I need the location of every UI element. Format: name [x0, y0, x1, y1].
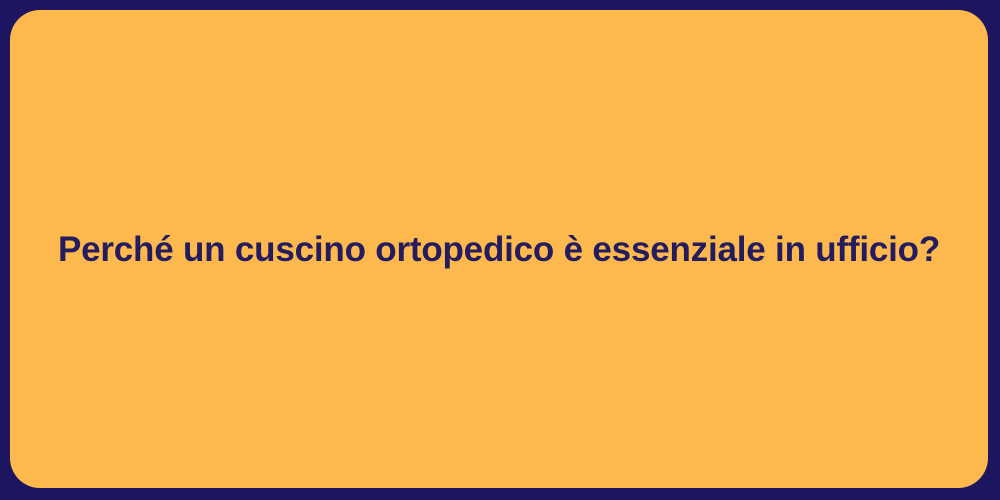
banner-frame: Perché un cuscino ortopedico è essenzial… [0, 0, 1000, 500]
heading-container: Perché un cuscino ortopedico è essenzial… [10, 228, 988, 272]
banner-card: Perché un cuscino ortopedico è essenzial… [10, 10, 988, 488]
page-title: Perché un cuscino ortopedico è essenzial… [50, 228, 948, 272]
